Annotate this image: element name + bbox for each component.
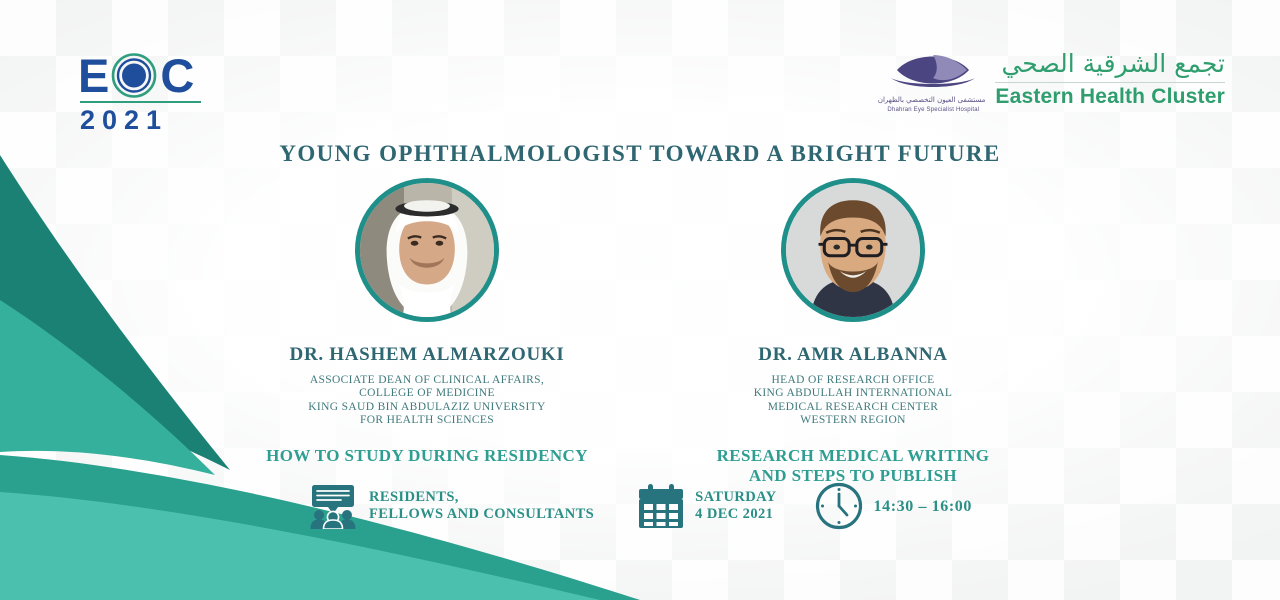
speaker-topic: HOW TO STUDY DURING RESIDENCY [214, 446, 640, 466]
avatar [781, 178, 925, 322]
speaker-name: DR. AMR ALBANNA [640, 344, 1066, 366]
eastern-health-cluster-logo: مستشفى العيون التخصصي بالظهران Dhahran E… [881, 48, 1225, 113]
event-info-strip: RESIDENTS,FELLOWS AND CONSULTANTS [0, 482, 1280, 530]
eoc-event-logo: E C 2021 [78, 52, 201, 136]
dhahran-hospital-logo: مستشفى العيون التخصصي بالظهران Dhahran E… [881, 48, 985, 113]
speaker-affiliation: HEAD OF RESEARCH OFFICEKING ABDULLAH INT… [640, 374, 1066, 427]
eoc-letter-e: E [78, 52, 108, 99]
speaker-portrait [360, 183, 494, 317]
cluster-name-english: Eastern Health Cluster [995, 85, 1225, 109]
date-info: SATURDAY4 DEC 2021 [638, 483, 776, 529]
page-title: YOUNG OPHTHALMOLOGIST TOWARD A BRIGHT FU… [0, 141, 1280, 167]
date-label: SATURDAY4 DEC 2021 [695, 489, 776, 523]
speaker-topic: RESEARCH MEDICAL WRITINGAND STEPS TO PUB… [640, 446, 1066, 486]
calendar-icon [638, 483, 684, 529]
avatar [355, 178, 499, 322]
speaker-portrait [786, 183, 920, 317]
speaker-affiliation: ASSOCIATE DEAN OF CLINICAL AFFAIRS,COLLE… [214, 374, 640, 427]
speaker-card: DR. AMR ALBANNA HEAD OF RESEARCH OFFICEK… [640, 178, 1066, 486]
time-info: 14:30 – 16:00 [815, 482, 972, 530]
conference-poster: E C 2021 مستشفى العيون التخصصي بالظهران … [0, 0, 1280, 600]
audience-label: RESIDENTS,FELLOWS AND CONSULTANTS [369, 489, 594, 523]
clock-icon [815, 482, 863, 530]
eoc-year: 2021 [80, 105, 201, 136]
eye-icon [109, 52, 159, 99]
audience-info: RESIDENTS,FELLOWS AND CONSULTANTS [308, 484, 594, 529]
cluster-name-arabic: تجمع الشرقية الصحي [995, 50, 1225, 79]
hospital-name-english: Dhahran Eye Specialist Hospital [881, 107, 985, 113]
speakers-row: DR. HASHEM ALMARZOUKI ASSOCIATE DEAN OF … [0, 178, 1280, 486]
hospital-name-arabic: مستشفى العيون التخصصي بالظهران [881, 96, 985, 104]
eoc-letter-c: C [160, 52, 193, 99]
eye-icon [881, 48, 985, 90]
time-label: 14:30 – 16:00 [874, 498, 972, 515]
presentation-audience-icon [308, 484, 358, 529]
cluster-logo-divider [995, 82, 1225, 83]
speaker-name: DR. HASHEM ALMARZOUKI [214, 344, 640, 366]
speaker-card: DR. HASHEM ALMARZOUKI ASSOCIATE DEAN OF … [214, 178, 640, 486]
